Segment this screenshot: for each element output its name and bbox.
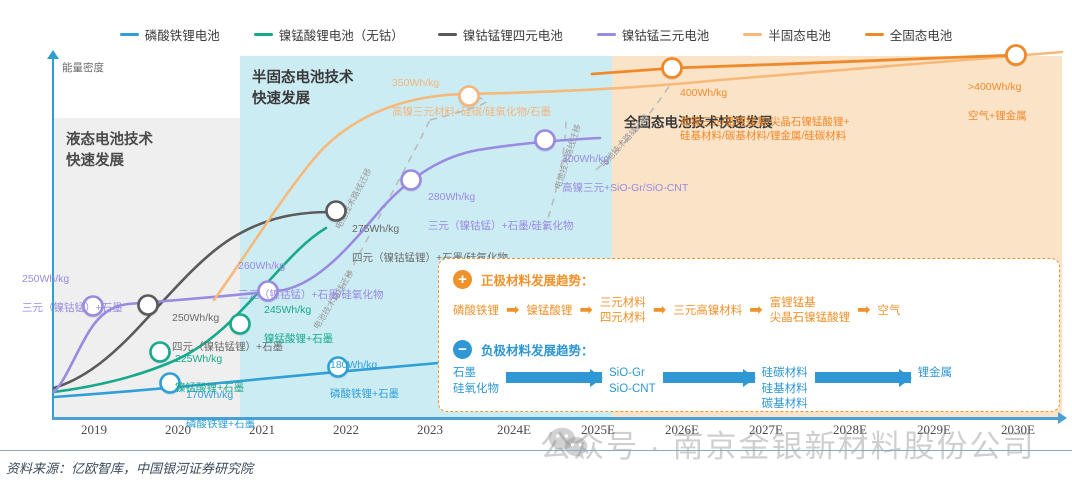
material: 空气+锂金属 [968, 109, 1027, 123]
arrow-right-icon: ➡ [857, 303, 870, 319]
point-label-400plus-air: >400Wh/kg 空气+锂金属 [968, 66, 1027, 123]
point-label-350-semi: 350Wh/kg 高镍三元材料+硅碳/硅氧化物/石墨 [392, 62, 551, 119]
arrow-right-icon: ➡ [579, 303, 592, 319]
point-label-300-ncm: 300Wh/kg 高镍三元+SiO-Gr/SiO-CNT [562, 138, 688, 195]
material: 磷酸铁锂+石墨 [186, 417, 255, 431]
value: 225Wh/kg [175, 352, 244, 366]
point-label-245-nma: 245Wh/kg 镍锰酸锂+石墨 [264, 289, 333, 346]
footer-divider [0, 450, 1072, 451]
value: 400Wh/kg [680, 86, 849, 100]
material: 高镍三元材料+硅碳/硅氧化物/石墨 [392, 105, 551, 119]
cathode-item-0: 磷酸铁锂 [453, 304, 499, 319]
legend-swatch-1 [254, 33, 273, 36]
point-label-180-lfp: 180Wh/kg 磷酸铁锂+石墨 [330, 344, 399, 401]
legend-label-1: 镍锰酸锂电池（无钴） [279, 25, 404, 44]
cathode-item-3: 三元高镍材料 [673, 304, 742, 319]
plus-icon: + [453, 270, 472, 289]
anode-item-2: 硅碳材料 硅基材料 碳基材料 [762, 366, 808, 412]
value: 245Wh/kg [264, 303, 333, 317]
anode-trend-header: − 负极材料发展趋势： [453, 340, 1059, 359]
material: 磷酸铁锂+石墨 [330, 387, 399, 401]
x-tick-2023: 2023 [417, 422, 443, 438]
material: 高镍三元/富锂锰基/尖晶石镍锰酸锂+ 硅基材料/碳基材料/锂金属/硅碳材料 [680, 115, 849, 143]
legend-item-5: 全固态电池 [865, 25, 953, 44]
arrow-right-icon: ➡ [749, 303, 762, 319]
x-tick-2022: 2022 [333, 422, 359, 438]
anode-item-0: 石墨 硅氧化物 [453, 366, 499, 396]
watermark-text: 公众号 · 南京金银新材料股份公司 [540, 421, 1036, 466]
value: 180Wh/kg [330, 358, 399, 372]
cathode-trend-header: + 正极材料发展趋势： [453, 270, 1059, 289]
material: 三元（镍钴锰）+石墨 [22, 301, 123, 315]
value: 280Wh/kg [428, 190, 574, 204]
material: 高镍三元+SiO-Gr/SiO-CNT [562, 181, 688, 195]
point-label-250-ncm: 250Wh/kg 三元（镍钴锰）+石墨 [22, 258, 123, 315]
point-label-280-ncm: 280Wh/kg 三元（镍钴锰）+石墨/硅氧化物 [428, 176, 574, 233]
point-label-400-solid: 400Wh/kg 高镍三元/富锂锰基/尖晶石镍锰酸锂+ 硅基材料/碳基材料/锂金… [680, 72, 849, 143]
anode-item-3: 锂金属 [918, 366, 953, 381]
thick-arrow-icon [506, 372, 602, 383]
legend-label-3: 镍钴锰三元电池 [622, 25, 710, 44]
material-trend-box: + 正极材料发展趋势： 磷酸铁锂 ➡ 镍锰酸锂 ➡ 三元材料 四元材料 ➡ 三元… [438, 258, 1060, 412]
source-note: 资料来源：亿欧智库，中国银河证券研究院 [6, 458, 253, 477]
arrow-right-icon: ➡ [506, 303, 519, 319]
x-tick-2019: 2019 [81, 422, 107, 438]
y-axis-label: 能量密度 [62, 60, 104, 75]
value: 300Wh/kg [562, 152, 688, 166]
y-axis [52, 56, 54, 418]
legend-label-0: 磷酸铁锂电池 [145, 25, 220, 44]
anode-chain: 石墨 硅氧化物 SiO-Gr SiO-CNT 硅碳材料 硅基材料 碳基材料 锂金… [453, 366, 1059, 412]
point-label-170-lfp: 170Wh/kg 磷酸铁锂+石墨 [186, 374, 255, 431]
arrow-right-icon: ➡ [653, 303, 666, 319]
value: 350Wh/kg [392, 76, 551, 90]
cathode-chain: 磷酸铁锂 ➡ 镍锰酸锂 ➡ 三元材料 四元材料 ➡ 三元高镍材料 ➡ 富锂锰基 … [453, 296, 1059, 326]
band-label-semi-solid: 半固态电池技术 快速发展 [252, 68, 354, 110]
legend-item-1: 镍锰酸锂电池（无钴） [254, 25, 404, 44]
legend-swatch-0 [120, 33, 139, 36]
value: 250Wh/kg [22, 272, 123, 286]
material: 镍锰酸锂+石墨 [264, 332, 333, 346]
thick-arrow-icon [815, 372, 911, 383]
cathode-item-1: 镍锰酸锂 [526, 304, 572, 319]
cathode-item-5: 空气 [878, 304, 901, 319]
minus-icon: − [453, 340, 472, 359]
cathode-item-4: 富锂锰基 尖晶石镍锰酸锂 [770, 296, 851, 326]
chart-legend: 磷酸铁锂电池 镍锰酸锂电池（无钴） 镍钴锰锂四元电池 镍钴锰三元电池 半固态电池… [0, 22, 1072, 46]
legend-label-2: 镍钴锰锂四元电池 [463, 25, 563, 44]
legend-item-3: 镍钴锰三元电池 [597, 25, 710, 44]
legend-swatch-5 [865, 33, 884, 36]
band-label-liquid: 液态电池技术 快速发展 [66, 130, 153, 172]
legend-label-4: 半固态电池 [768, 25, 831, 44]
thick-arrow-icon [663, 372, 755, 383]
legend-item-0: 磷酸铁锂电池 [120, 25, 220, 44]
legend-swatch-2 [438, 33, 457, 36]
legend-label-5: 全固态电池 [890, 25, 953, 44]
value: >400Wh/kg [968, 80, 1027, 94]
material: 三元（镍钴锰）+石墨/硅氧化物 [428, 219, 574, 233]
legend-item-2: 镍钴锰锂四元电池 [438, 25, 563, 44]
cathode-item-2: 三元材料 四元材料 [600, 296, 646, 326]
x-tick-2024E: 2024E [497, 422, 531, 438]
anode-item-1: SiO-Gr SiO-CNT [609, 366, 656, 396]
cathode-trend-title: 正极材料发展趋势： [481, 270, 594, 289]
legend-swatch-3 [597, 33, 616, 36]
value: 170Wh/kg [186, 388, 255, 402]
anode-trend-title: 负极材料发展趋势： [481, 340, 594, 359]
legend-swatch-4 [743, 33, 762, 36]
legend-item-4: 半固态电池 [743, 25, 831, 44]
